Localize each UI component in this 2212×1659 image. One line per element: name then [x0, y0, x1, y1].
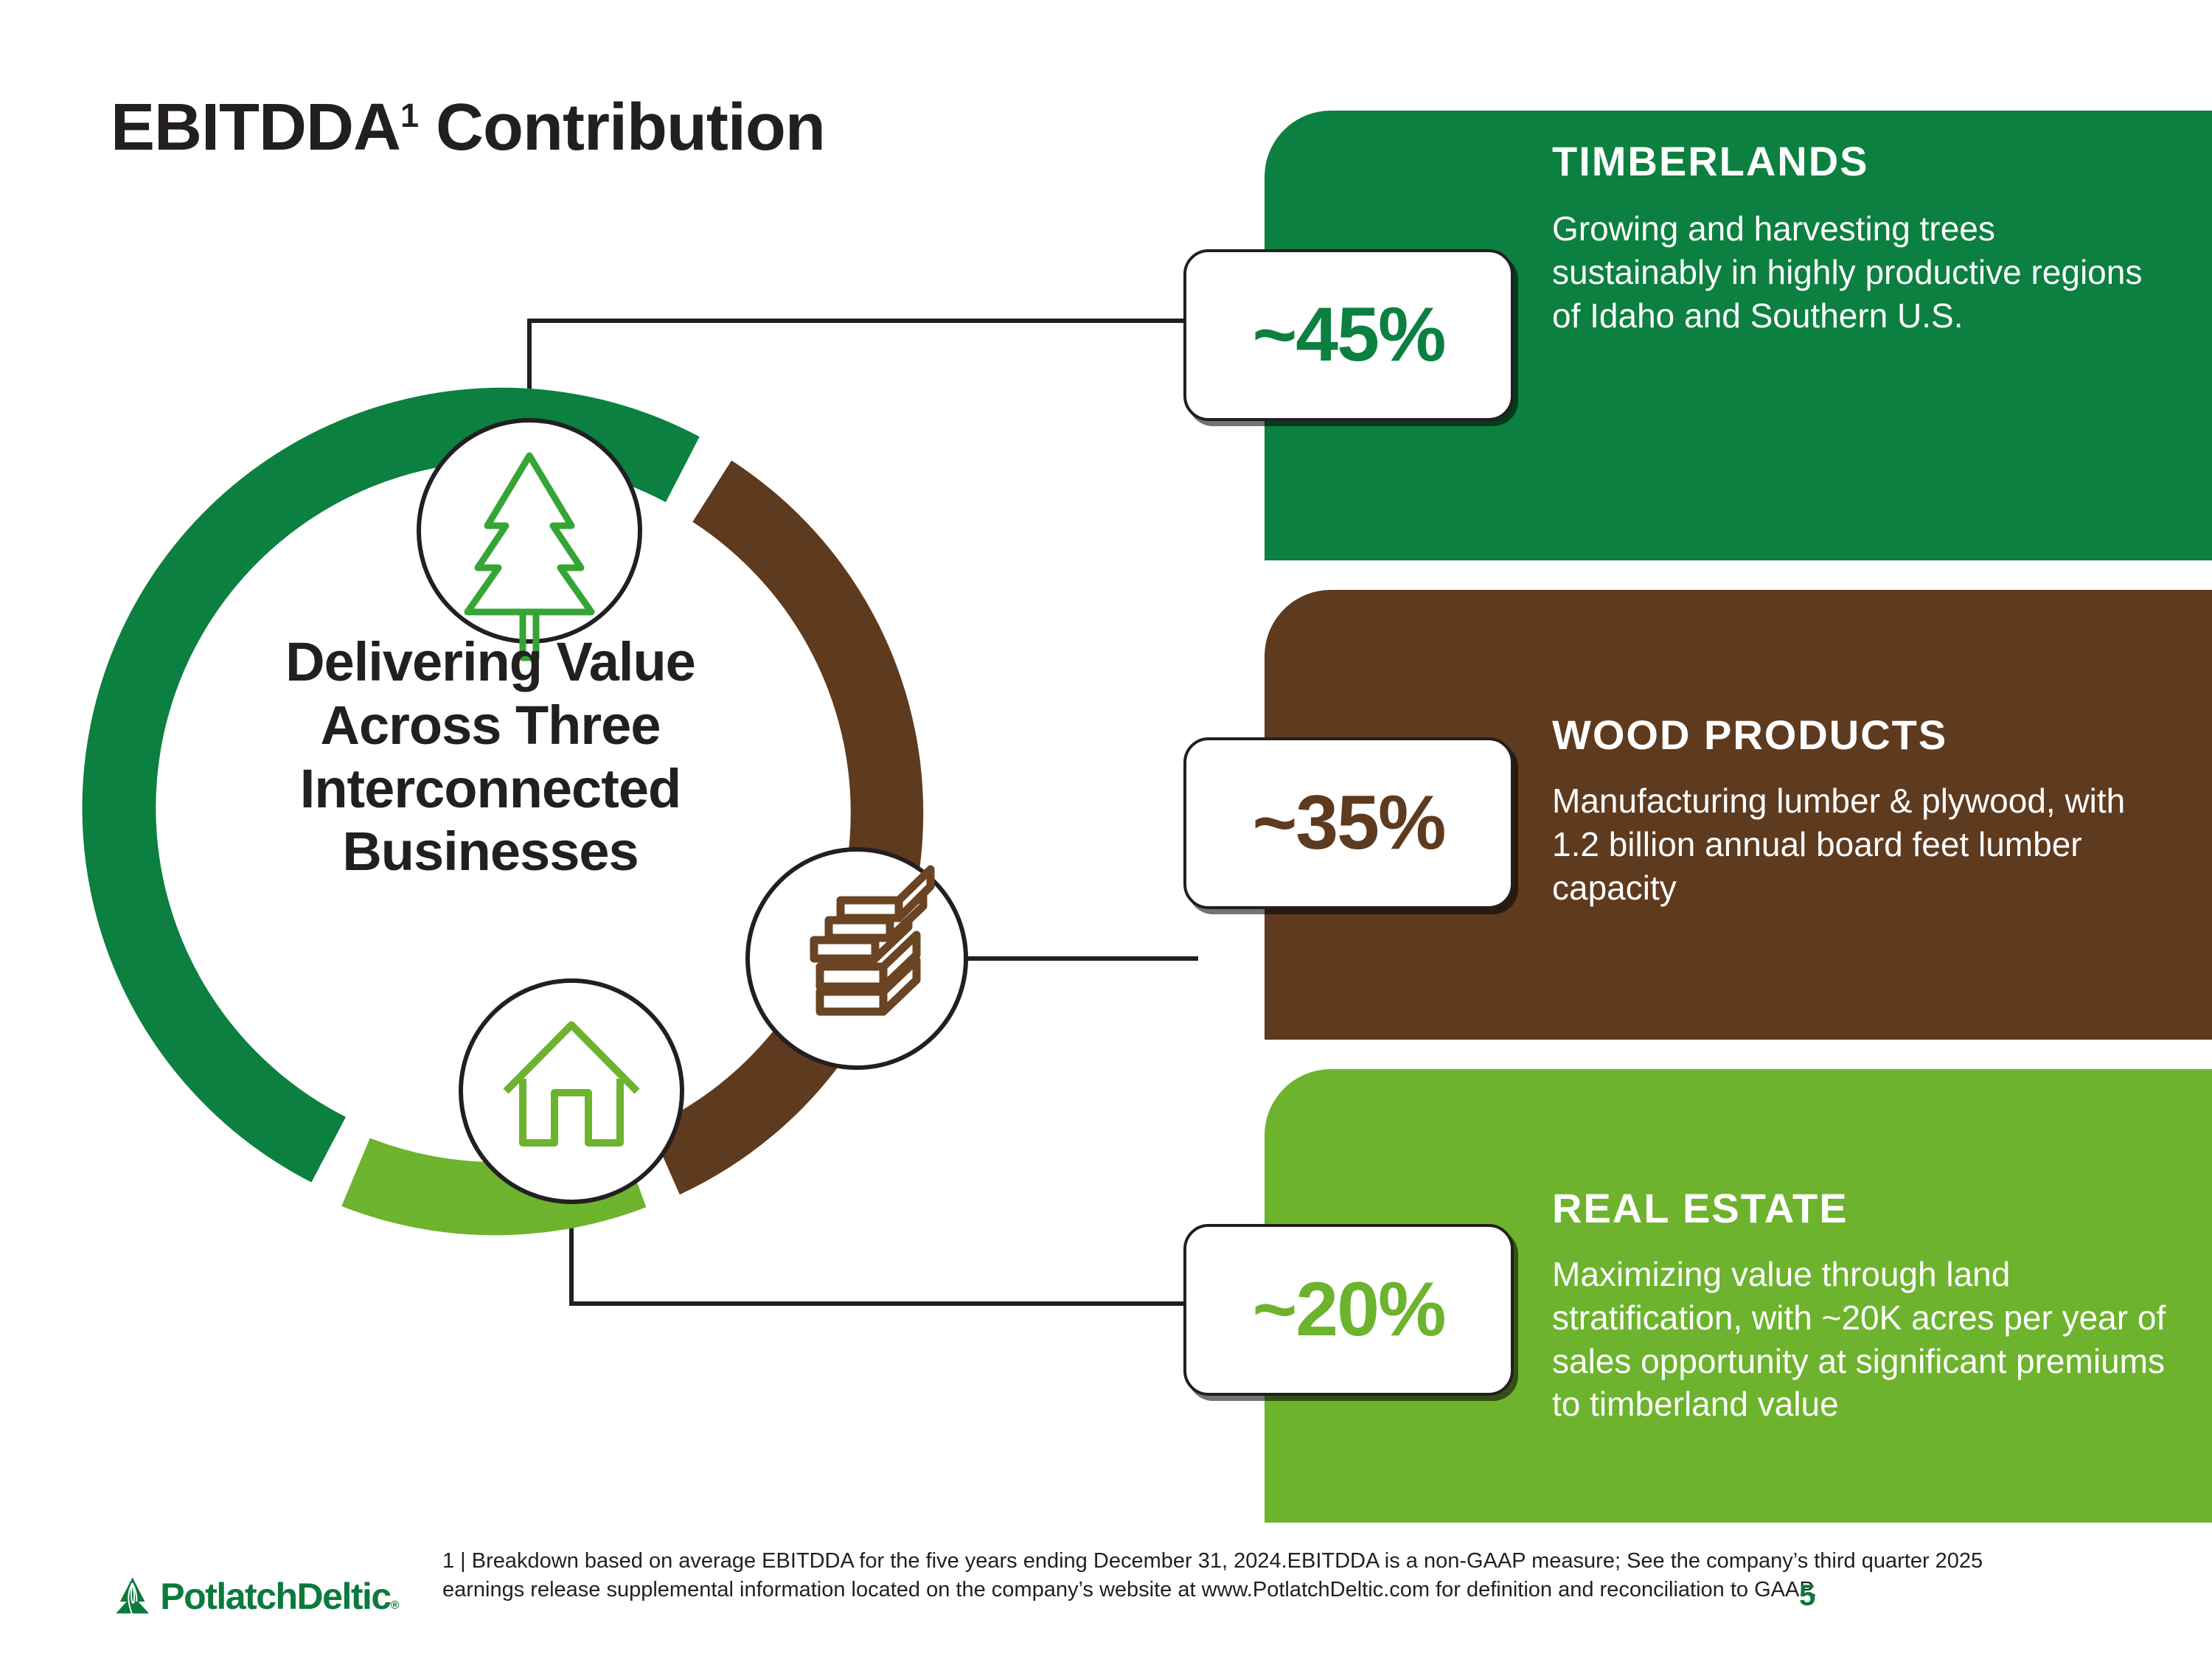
page-title-footnote-marker: 1 [400, 97, 418, 134]
donut-icon-node-wood-products[interactable] [748, 849, 966, 1068]
badge-timberlands[interactable]: ~45% [1183, 249, 1514, 421]
panel-body-wood-products: Manufacturing lumber & plywood, with 1.2… [1552, 757, 2168, 910]
badge-real-estate[interactable]: ~20% [1183, 1224, 1514, 1396]
footnote-text: 1 | Breakdown based on average EBITDDA f… [442, 1547, 2013, 1604]
panel-body-real-estate: Maximizing value through land stratifica… [1552, 1231, 2168, 1427]
panel-body-timberlands: Growing and harvesting trees sustainably… [1552, 184, 2168, 338]
company-logo-text: PotlatchDeltic® [160, 1575, 398, 1618]
company-logo-wordmark: PotlatchDeltic [160, 1576, 390, 1617]
page-number: 5 [1799, 1579, 1815, 1613]
registered-mark-icon: ® [391, 1599, 398, 1612]
page-title-rest: Contribution [418, 91, 825, 164]
connector-line-timberlands [529, 321, 1198, 420]
donut-icon-node-real-estate[interactable] [461, 981, 682, 1202]
page-title: EBITDDA1 Contribution [111, 90, 825, 166]
donut-icon-node-timberlands[interactable] [419, 420, 640, 658]
company-logo: PotlatchDeltic® [111, 1571, 398, 1622]
panel-heading-wood-products: WOOD PRODUCTS [1552, 590, 2168, 757]
page-title-main: EBITDDA [111, 91, 400, 164]
panel-heading-real-estate: REAL ESTATE [1552, 1069, 2168, 1231]
donut-center-label: Delivering Value Across Three Interconne… [221, 630, 759, 883]
panel-heading-timberlands: TIMBERLANDS [1552, 111, 2168, 184]
connector-line-real-estate [571, 1202, 1198, 1304]
badge-wood-products[interactable]: ~35% [1183, 737, 1514, 909]
potlatch-tree-logo-icon [111, 1571, 154, 1622]
